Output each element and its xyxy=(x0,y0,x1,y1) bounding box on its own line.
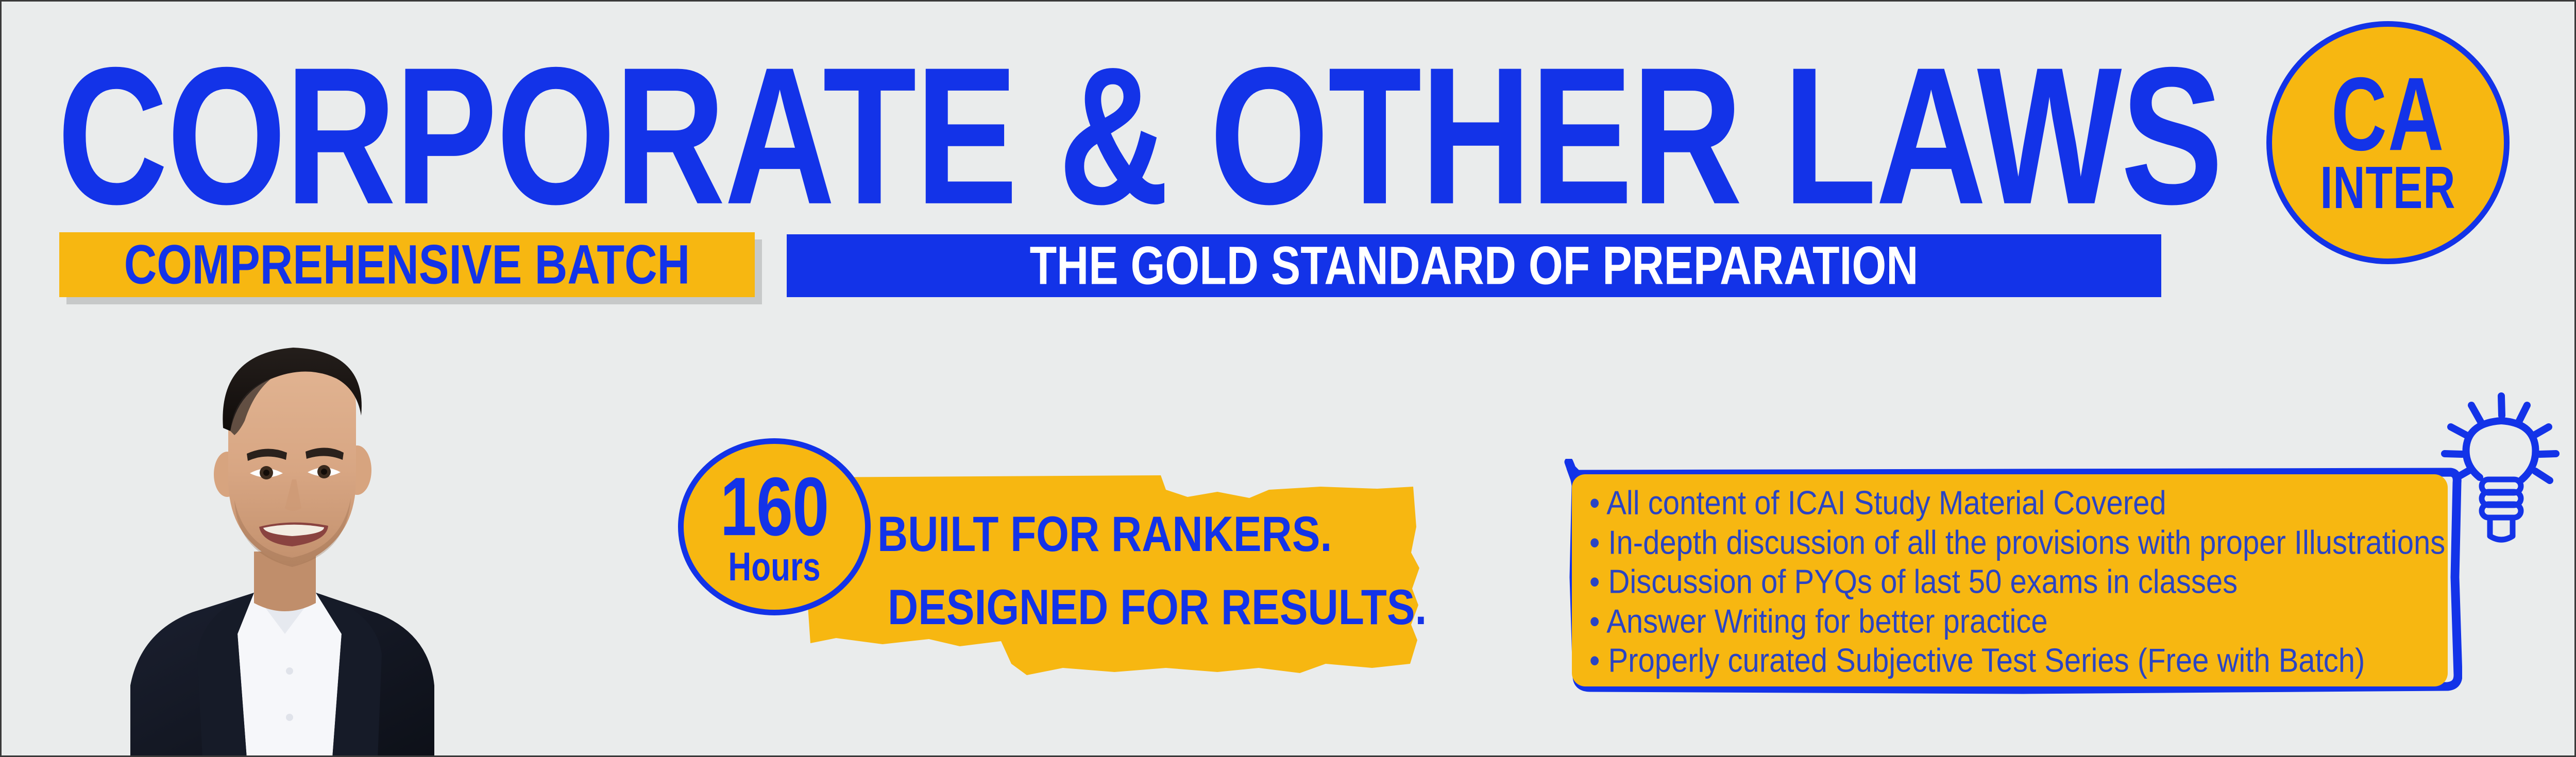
course-hours-unit: Hours xyxy=(728,549,820,586)
gold-standard-label: THE GOLD STANDARD OF PREPARATION xyxy=(1030,235,1919,297)
comprehensive-batch-tag: COMPREHENSIVE BATCH xyxy=(59,232,755,297)
feature-text: Answer Writing for better practice xyxy=(1606,603,2047,640)
course-level-badge: CA INTER xyxy=(2266,21,2510,264)
features-panel: • All content of ICAI Study Material Cov… xyxy=(1572,474,2448,686)
bullet-icon: • xyxy=(1589,524,1600,561)
tagline-highlight: BUILT FOR RANKERS. DESIGNED FOR RESULTS. xyxy=(805,460,1423,682)
tagline-text-block: BUILT FOR RANKERS. DESIGNED FOR RESULTS. xyxy=(805,460,1423,682)
feature-text: All content of ICAI Study Material Cover… xyxy=(1606,484,2166,522)
list-item: • Properly curated Subjective Test Serie… xyxy=(1589,643,2430,678)
feature-text: Properly curated Subjective Test Series … xyxy=(1608,642,2365,679)
course-hours-badge: 160 Hours xyxy=(678,438,871,615)
gold-standard-bar: THE GOLD STANDARD OF PREPARATION xyxy=(787,234,2161,297)
list-item: • Answer Writing for better practice xyxy=(1589,604,2430,639)
list-item: • In-depth discussion of all the provisi… xyxy=(1589,525,2430,560)
course-level-secondary: INTER xyxy=(2320,162,2456,215)
instructor-portrait xyxy=(99,325,460,757)
tagline-line-2: DESIGNED FOR RESULTS. xyxy=(888,581,1423,633)
list-item: • All content of ICAI Study Material Cov… xyxy=(1589,486,2430,520)
bullet-icon: • xyxy=(1589,563,1600,600)
bullet-icon: • xyxy=(1589,603,1600,640)
bullet-icon: • xyxy=(1589,484,1600,522)
lightbulb-icon xyxy=(2426,389,2576,548)
features-list: • All content of ICAI Study Material Cov… xyxy=(1589,488,2430,676)
course-hours-number: 160 xyxy=(720,472,829,543)
bullet-icon: • xyxy=(1589,642,1600,679)
page-title: CORPORATE & OTHER LAWS xyxy=(57,39,2264,233)
course-promo-banner: CORPORATE & OTHER LAWS CA INTER COMPREHE… xyxy=(0,0,2576,757)
features-panel-frame: • All content of ICAI Study Material Cov… xyxy=(1560,459,2462,700)
list-item: • Discussion of PYQs of last 50 exams in… xyxy=(1589,564,2430,599)
feature-text: Discussion of PYQs of last 50 exams in c… xyxy=(1608,563,2238,600)
tagline-line-1: BUILT FOR RANKERS. xyxy=(877,508,1423,560)
course-level-primary: CA xyxy=(2331,70,2445,159)
feature-text: In-depth discussion of all the provision… xyxy=(1608,524,2445,561)
comprehensive-batch-label: COMPREHENSIVE BATCH xyxy=(124,233,690,297)
